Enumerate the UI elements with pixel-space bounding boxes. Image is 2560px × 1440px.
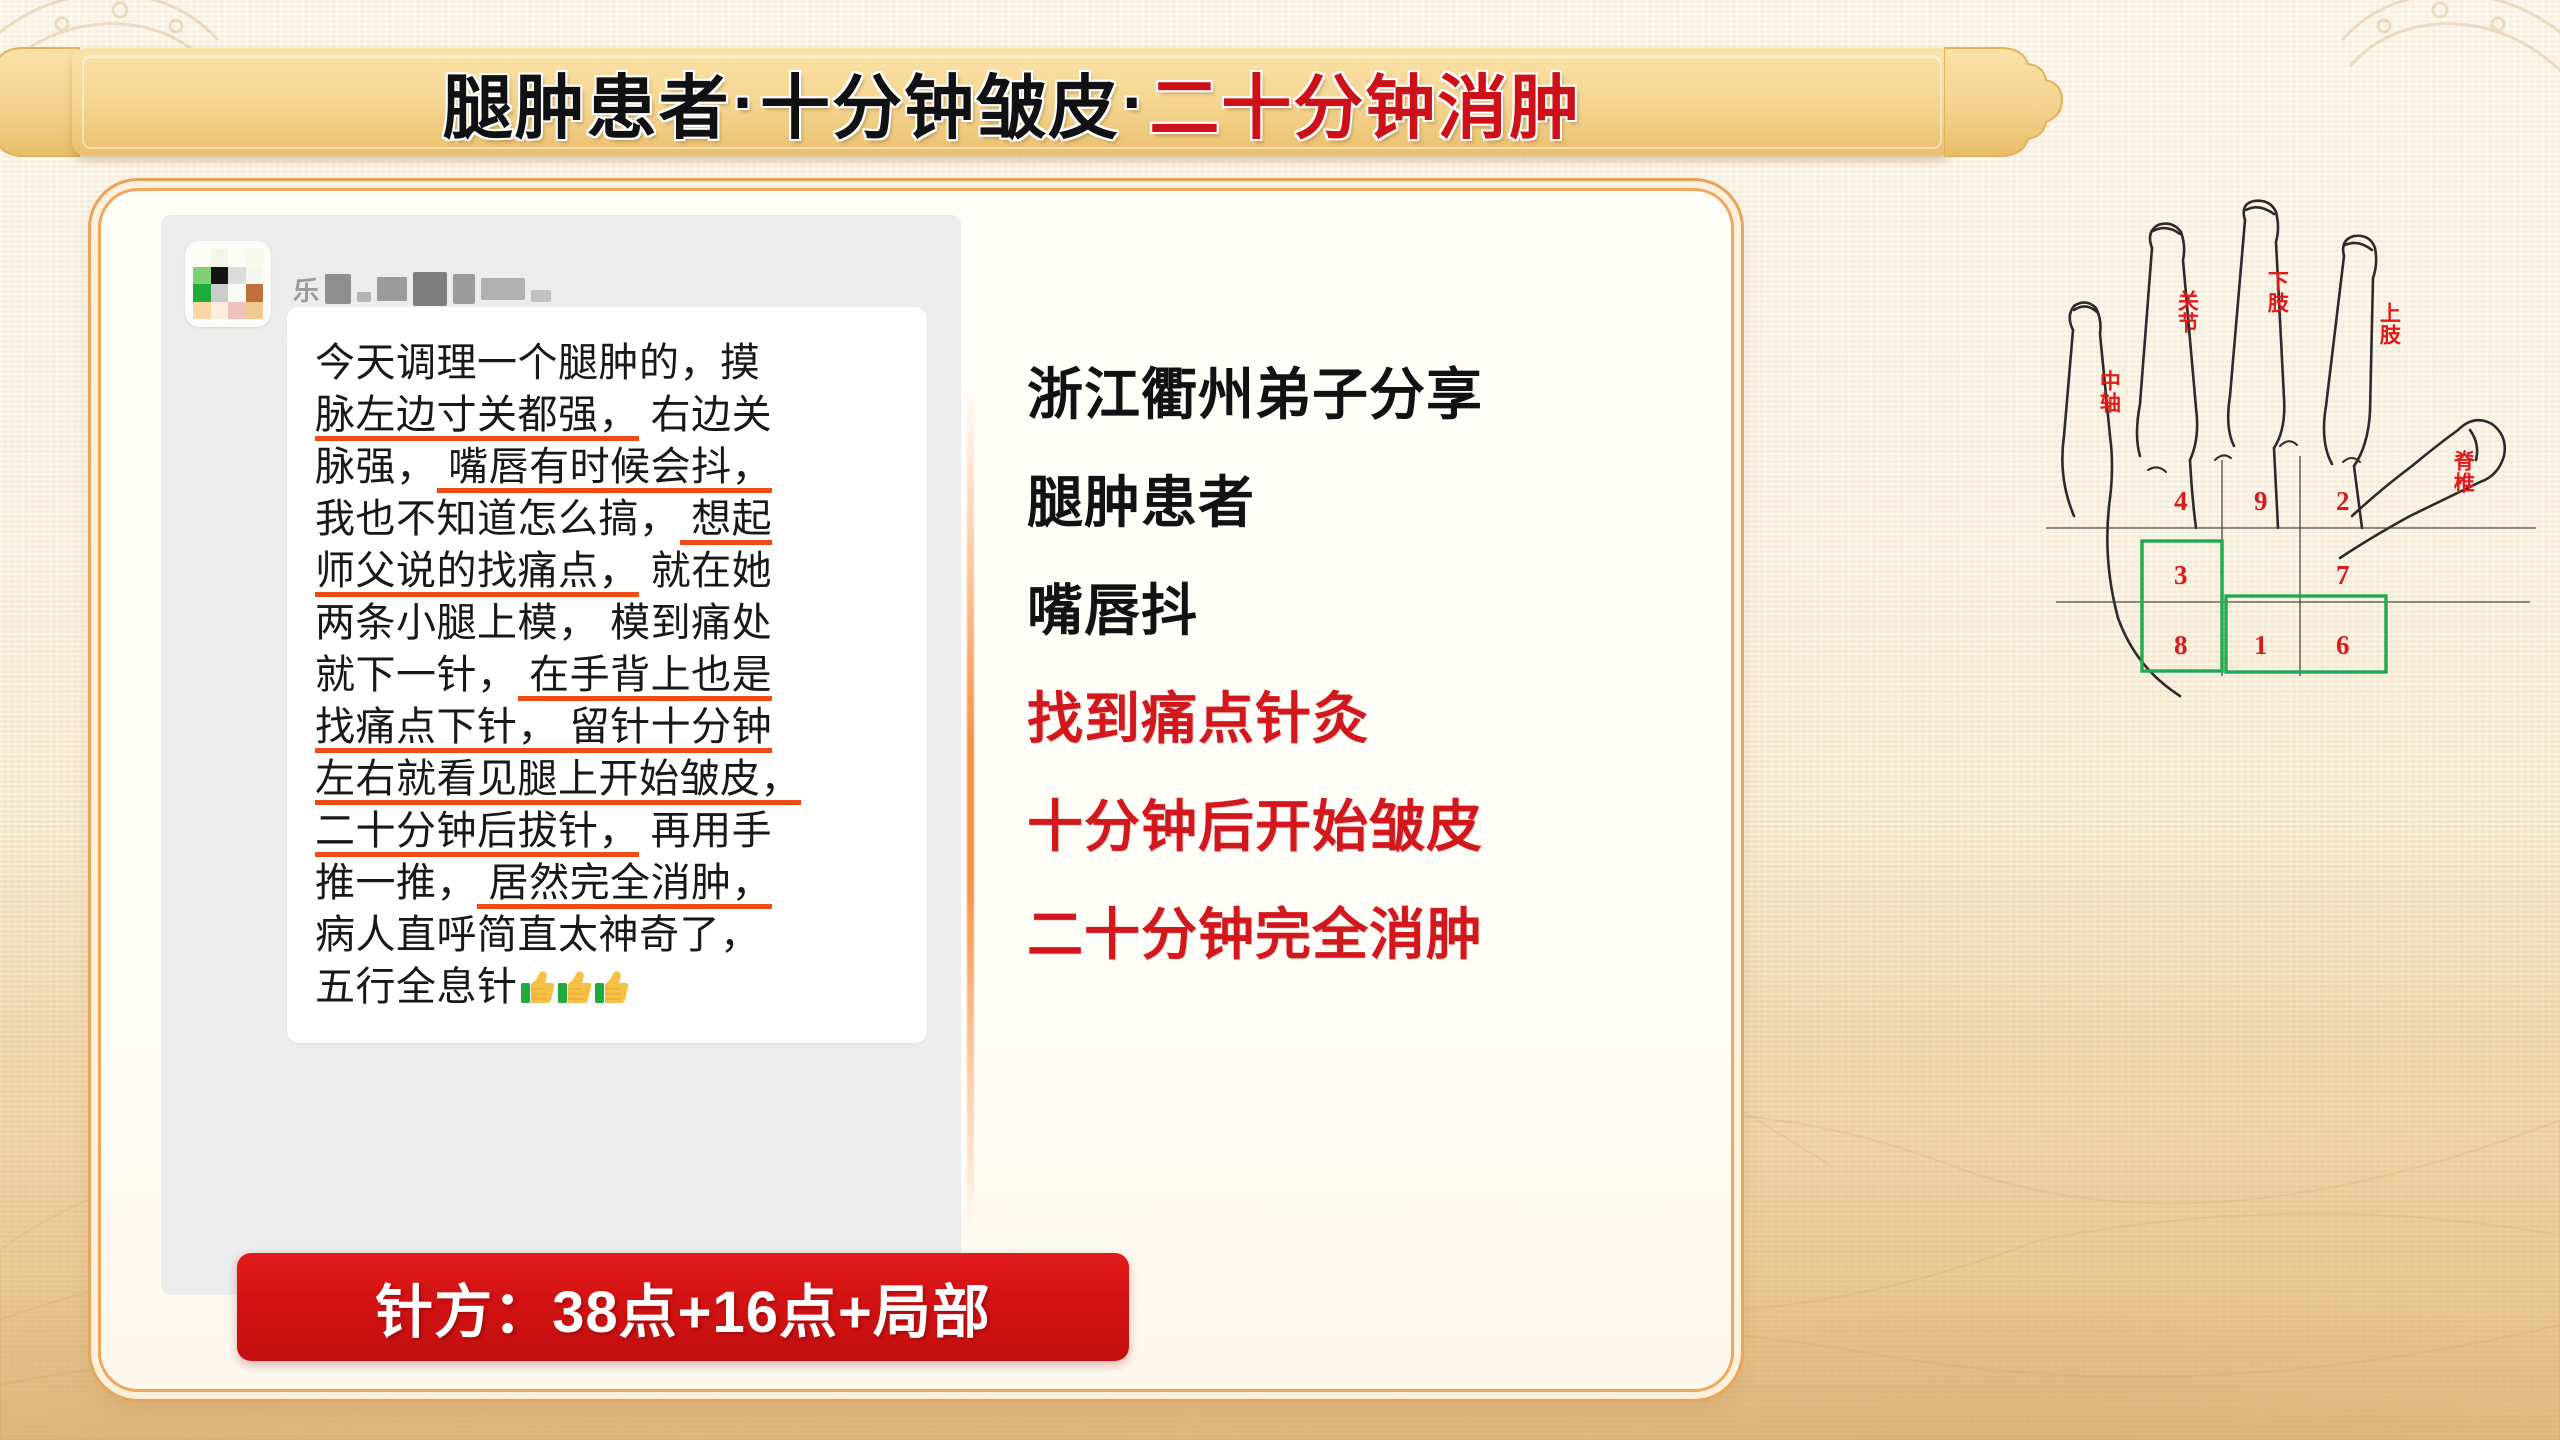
wechat-message-line: 师父说的找痛点， 就在她: [315, 545, 901, 597]
title-separator-1: ·: [731, 62, 760, 142]
summary-list: 浙江衢州弟子分享 腿肿患者 嘴唇抖 找到痛点针灸 十分钟后开始皱皮 二十分钟完全…: [1027, 367, 1687, 1015]
prescription-label: 针方：38点+16点+局部: [375, 1265, 991, 1349]
message-text: 脉强，: [315, 445, 437, 489]
prescription-badge: 针方：38点+16点+局部: [237, 1253, 1129, 1361]
hand-zone-1: 1: [2254, 630, 2268, 661]
title-segment-1: 腿肿患者: [443, 52, 731, 153]
hand-zone-2: 2: [2336, 486, 2350, 517]
wechat-message-line: 今天调理一个腿肿的，摸: [315, 337, 901, 389]
hand-label-shangzhi: 上肢: [2378, 302, 2399, 346]
hand-label-guanjie: 关节: [2176, 290, 2197, 334]
summary-item: 嘴唇抖: [1027, 583, 1687, 639]
nickname-redaction-block: [377, 277, 407, 301]
underlined-text: 想起: [680, 497, 773, 545]
nickname-redaction-block: [531, 290, 551, 302]
underlined-text: 在手背上也是: [518, 653, 773, 701]
summary-item: 浙江衢州弟子分享: [1027, 367, 1687, 423]
wechat-message-line: 脉强， 嘴唇有时候会抖，: [315, 441, 901, 493]
wechat-message-line: 二十分钟后拔针， 再用手: [315, 805, 901, 857]
content-card-inner: 乐 今天调理一个腿肿的，摸脉左边寸关都强， 右边关脉强， 嘴唇有时候会抖，我也不…: [101, 191, 1731, 1389]
message-text: 病人直呼简直太神奇了，: [315, 913, 761, 957]
hand-label-jizhui: 脊椎: [2452, 450, 2473, 494]
wechat-message-line: 找痛点下针， 留针十分钟: [315, 701, 901, 753]
message-text: 右边关: [639, 393, 772, 437]
message-text: 模到痛处: [599, 601, 773, 645]
message-text: 就在她: [639, 549, 772, 593]
message-text: 我也不知道怎么搞，: [315, 497, 680, 541]
page-title: 腿肿患者 · 十分钟皱皮 · 二十分钟消肿: [72, 48, 1952, 156]
thumbs-up-icon: [593, 967, 629, 1003]
message-text: 再用手: [639, 809, 772, 853]
title-segment-2: 十分钟皱皮: [760, 52, 1120, 153]
hand-acupuncture-diagram: 中轴 关节 下肢 上肢 脊椎 4 9 2 3 7 8 1 6: [2040, 198, 2540, 718]
hand-label-xiazhi: 下肢: [2266, 270, 2287, 314]
message-text: 今天调理一个腿肿的，: [315, 341, 720, 385]
wechat-screenshot: 乐 今天调理一个腿肿的，摸脉左边寸关都强， 右边关脉强， 嘴唇有时候会抖，我也不…: [161, 215, 961, 1295]
hand-zone-6: 6: [2336, 630, 2350, 661]
banner-right-scallop-icon: [1944, 44, 2074, 160]
wechat-message-line: 脉左边寸关都强， 右边关: [315, 389, 901, 441]
hand-zone-3: 3: [2174, 560, 2188, 591]
content-card: 乐 今天调理一个腿肿的，摸脉左边寸关都强， 右边关脉强， 嘴唇有时候会抖，我也不…: [98, 188, 1734, 1392]
underlined-text: 找痛点下针，: [315, 705, 558, 753]
nickname-visible-char: 乐: [293, 271, 319, 308]
column-divider: [967, 391, 974, 1231]
avatar-tiles: [193, 249, 263, 319]
summary-item: 二十分钟完全消肿: [1027, 907, 1687, 963]
thumbs-up-icon: [519, 967, 555, 1003]
wechat-message-bubble: 今天调理一个腿肿的，摸脉左边寸关都强， 右边关脉强， 嘴唇有时候会抖，我也不知道…: [287, 307, 927, 1043]
thumbs-up-icon: [556, 967, 592, 1003]
message-text: 推一推，: [315, 861, 477, 905]
hand-zone-8: 8: [2174, 630, 2188, 661]
nickname-redaction-block: [481, 278, 525, 300]
title-banner: 腿肿患者 · 十分钟皱皮 · 二十分钟消肿: [72, 48, 1952, 156]
message-text: 摸: [720, 341, 761, 385]
underlined-text: 嘴唇有时候会抖，: [437, 445, 773, 493]
underlined-text: 留针十分钟: [558, 705, 772, 753]
avatar: [185, 241, 271, 327]
nickname-redaction-block: [413, 272, 447, 306]
hand-zone-9: 9: [2254, 486, 2268, 517]
underlined-text: 师父说的找痛点，: [315, 549, 639, 597]
wechat-message-line: 左右就看见腿上开始皱皮，: [315, 753, 901, 805]
underlined-text: 脉左边寸关都强，: [315, 393, 639, 441]
nickname-redaction-block: [325, 274, 351, 304]
title-separator-2: ·: [1120, 62, 1149, 142]
wechat-message-line: 我也不知道怎么搞， 想起: [315, 493, 901, 545]
wechat-message-line: 就下一针， 在手背上也是: [315, 649, 901, 701]
message-text: 五行全息针: [315, 965, 518, 1009]
wechat-message-line: 两条小腿上模， 模到痛处: [315, 597, 901, 649]
wechat-message-line: 病人直呼简直太神奇了，: [315, 909, 901, 961]
underlined-text: 左右就看见腿上开始皱皮，: [315, 757, 801, 805]
hand-zone-7: 7: [2336, 560, 2350, 591]
hand-label-zhongzhou: 中轴: [2098, 370, 2119, 414]
hand-zone-4: 4: [2174, 486, 2188, 517]
message-text: 就下一针，: [315, 653, 518, 697]
summary-item: 腿肿患者: [1027, 475, 1687, 531]
wechat-message-line: 推一推， 居然完全消肿，: [315, 857, 901, 909]
nickname-redaction-block: [453, 274, 475, 304]
message-text: 两条小腿上模，: [315, 601, 599, 645]
summary-item: 十分钟后开始皱皮: [1027, 799, 1687, 855]
title-segment-3-highlight: 二十分钟消肿: [1149, 52, 1581, 153]
summary-item: 找到痛点针灸: [1027, 691, 1687, 747]
nickname-redaction-block: [357, 292, 371, 302]
underlined-text: 二十分钟后拔针，: [315, 809, 639, 857]
corner-ornament-right-icon: [2330, 0, 2560, 190]
wechat-message-line: 五行全息针: [315, 961, 901, 1013]
banner-left-scallop-icon: [0, 44, 80, 160]
wechat-message-text: 今天调理一个腿肿的，摸脉左边寸关都强， 右边关脉强， 嘴唇有时候会抖，我也不知道…: [315, 337, 901, 1013]
underlined-text: 居然完全消肿，: [477, 861, 772, 909]
